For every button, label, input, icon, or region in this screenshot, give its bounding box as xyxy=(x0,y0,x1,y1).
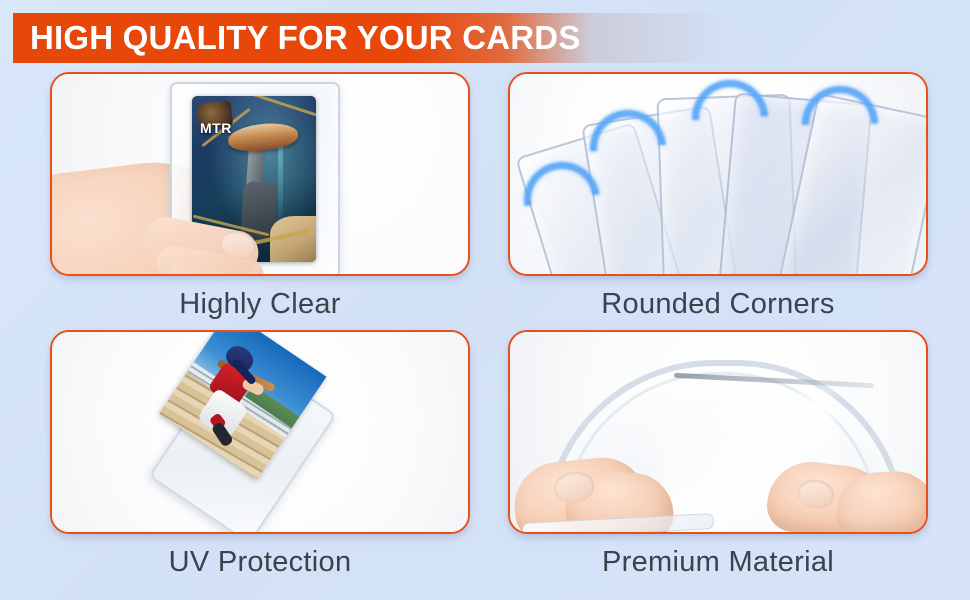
feature-image-panel-2 xyxy=(508,72,928,276)
feature-caption-1: Highly Clear xyxy=(50,288,470,321)
feature-cell-uv-protection: UV Protection xyxy=(50,330,470,579)
header-banner: HIGH QUALITY FOR YOUR CARDS xyxy=(13,13,735,63)
feature-grid: MTR Highly Clear Rounded xyxy=(0,72,970,600)
feature-image-panel-4 xyxy=(508,330,928,534)
card-art-mushroom-cap xyxy=(227,120,299,153)
feature-cell-premium-material: Premium Material xyxy=(508,330,928,579)
card-logo-text: MTR xyxy=(200,120,232,136)
feature-caption-3: UV Protection xyxy=(50,546,470,579)
card-art-glow xyxy=(278,136,283,228)
page-title: HIGH QUALITY FOR YOUR CARDS xyxy=(13,19,581,57)
card-art-vine xyxy=(245,96,316,116)
feature-image-panel-3 xyxy=(50,330,470,534)
feature-caption-4: Premium Material xyxy=(508,546,928,579)
product-infographic: HIGH QUALITY FOR YOUR CARDS xyxy=(0,0,970,600)
feature-caption-2: Rounded Corners xyxy=(508,288,928,321)
feature-image-panel-1: MTR xyxy=(50,72,470,276)
feature-cell-highly-clear: MTR Highly Clear xyxy=(50,72,470,321)
feature-cell-rounded-corners: Rounded Corners xyxy=(508,72,928,321)
